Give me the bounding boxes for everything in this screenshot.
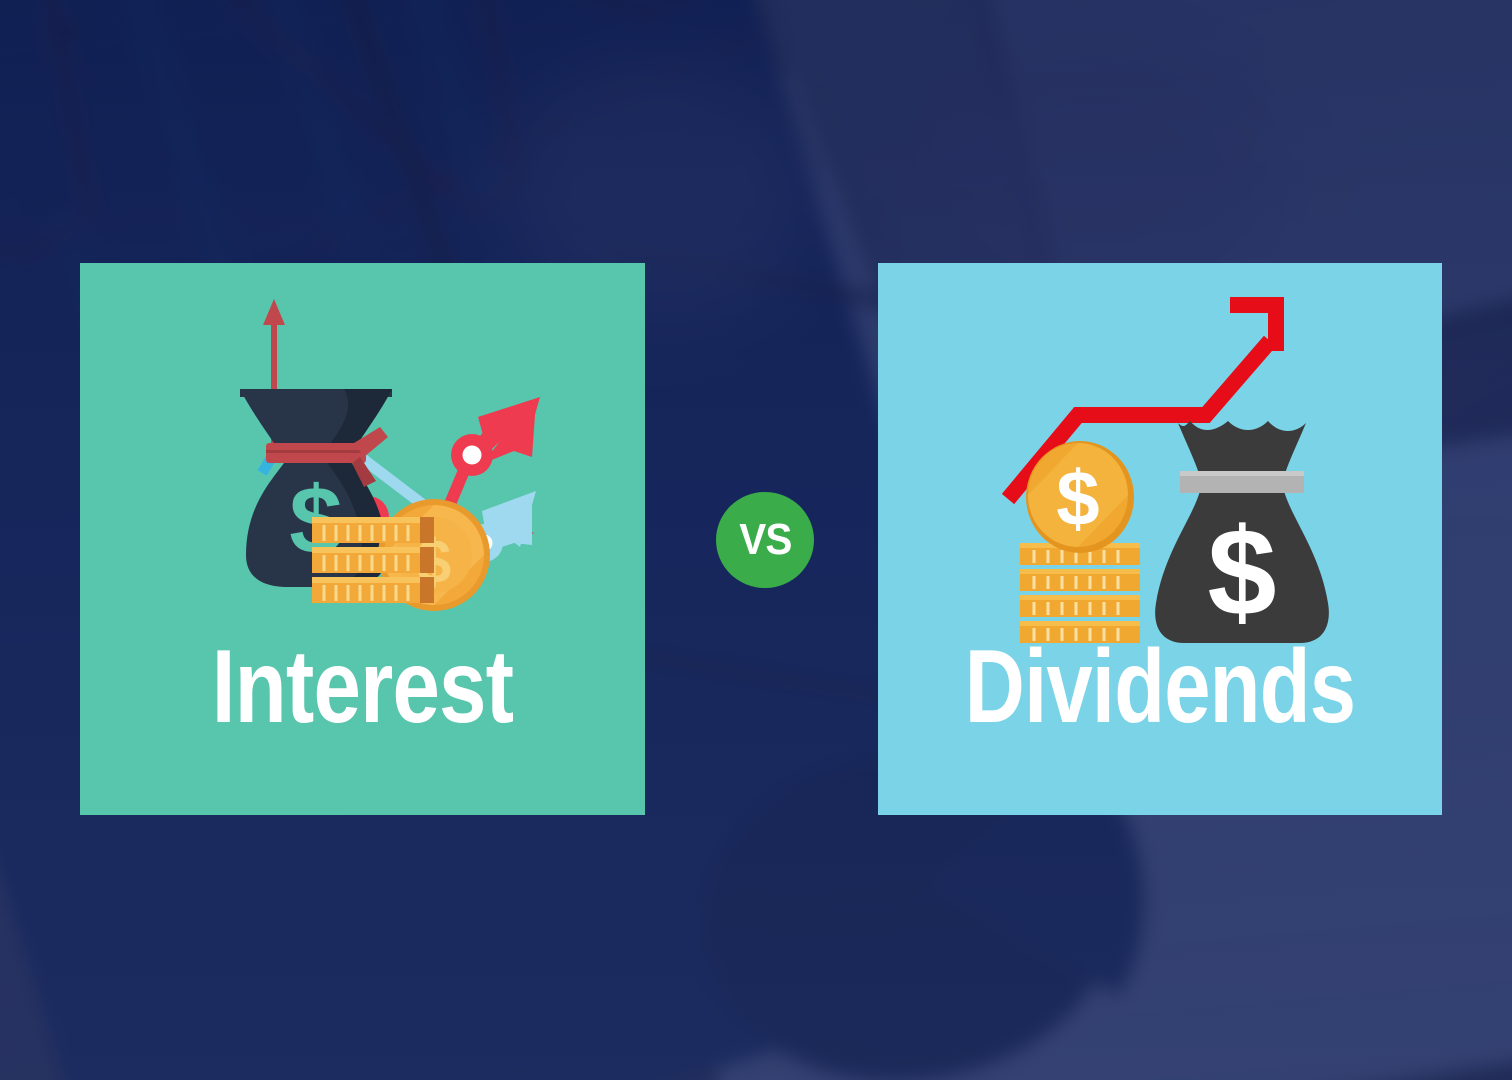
vs-badge-label: VS [739,518,791,562]
money-bag-icon: $ [1155,421,1329,643]
panel-interest[interactable]: $ $ [80,263,645,815]
svg-text:$: $ [1056,454,1099,542]
interest-illustration: $ $ [184,285,564,645]
gold-coin-icon: $ [1026,441,1134,553]
vs-badge: VS [716,492,814,588]
svg-text:$: $ [1208,504,1277,642]
panel-title-dividends: Dividends [934,635,1385,739]
dividends-illustration: $ $ [984,285,1344,655]
panel-title-interest: Interest [131,635,594,739]
coin-stack-icon [312,517,434,603]
panel-dividends[interactable]: $ $ Dividends [878,263,1442,815]
coin-stack-icon [1020,543,1140,643]
